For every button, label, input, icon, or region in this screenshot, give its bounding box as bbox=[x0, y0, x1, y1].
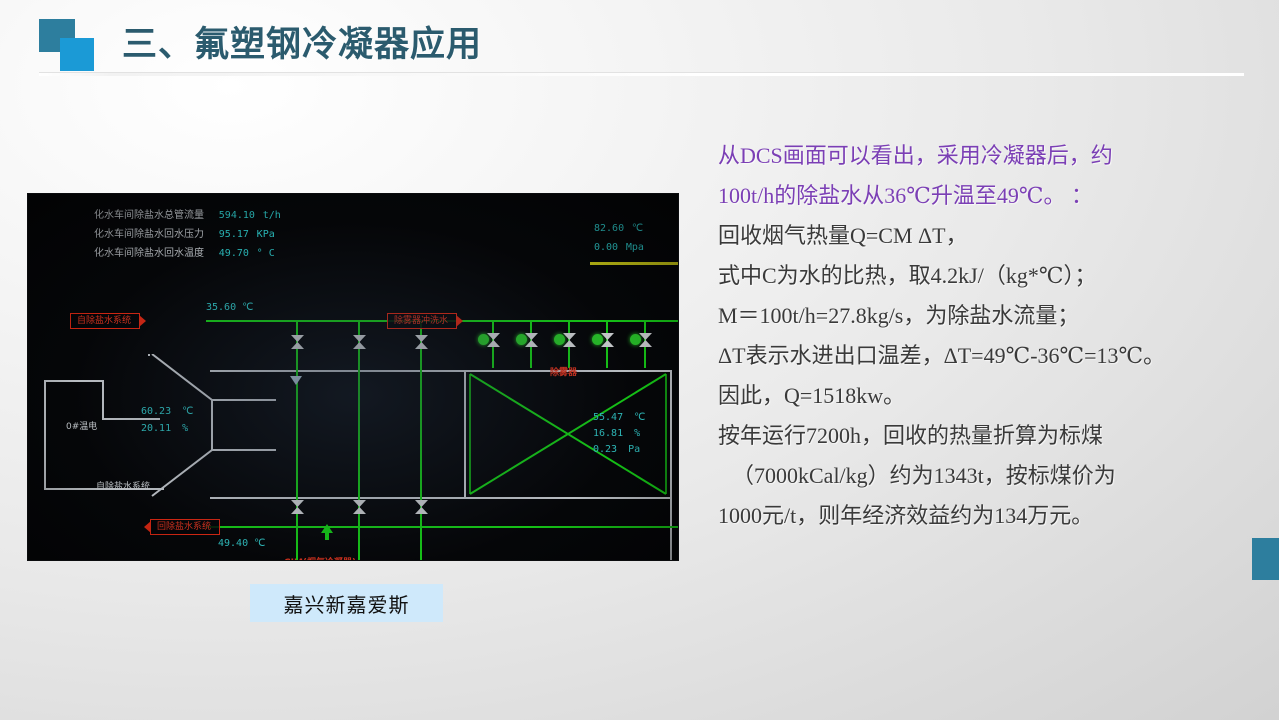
text-line-9: （7000kCal/kg）约为1343t，按标煤价为 bbox=[718, 456, 1266, 496]
chamber-top-wall bbox=[210, 370, 472, 372]
value-left-o2-unit: % bbox=[182, 423, 188, 434]
text-line-8: 按年运行7200h，回收的热量折算为标煤 bbox=[718, 416, 1266, 456]
label-boiler-source: 0#温电 bbox=[66, 419, 97, 432]
value-outlet-temp: 49.40 ℃ bbox=[218, 538, 265, 549]
text-line-4: 式中C为水的比热，取4.2kJ/（kg*℃）； bbox=[718, 256, 1266, 296]
value-inlet-temp: 35.60 ℃ bbox=[206, 302, 253, 313]
value-right-press-unit: Pa bbox=[628, 444, 640, 455]
value-left-stack-o2: 20.11 % bbox=[141, 423, 188, 434]
value-left-stack-temp: 60.23 ℃ bbox=[141, 406, 193, 417]
readout-unit-flow: t/h bbox=[263, 210, 281, 221]
stack-right-wall bbox=[670, 370, 672, 560]
value-right-stack-temp: 55.47 ℃ bbox=[593, 412, 645, 423]
chamber-right-wall bbox=[464, 370, 466, 499]
bundle-feed-1 bbox=[296, 370, 298, 560]
value-right-press-number: 0.23 bbox=[593, 444, 617, 455]
corner-accent-bar bbox=[1252, 538, 1279, 580]
readout-row-stack-press: 0.00 Mpa bbox=[594, 242, 644, 253]
readout-row-pressure: 化水车间除盐水回水压力 95.17 KPa bbox=[94, 225, 275, 240]
header-divider bbox=[39, 72, 1244, 76]
duct-divider-v bbox=[102, 380, 104, 420]
explanation-text-block: 从DCS画面可以看出，采用冷凝器后，约 100t/h的除盐水从36℃升温至49℃… bbox=[718, 136, 1266, 536]
tag-inlet-from-demin-water: 自除盐水系统 bbox=[70, 313, 140, 329]
duct-left-edge bbox=[44, 380, 46, 490]
page-title: 三、氟塑钢冷凝器应用 bbox=[122, 16, 482, 67]
value-left-o2-number: 20.11 bbox=[141, 423, 171, 434]
return-pipe-horizontal bbox=[206, 526, 678, 528]
dcs-screen-photo: 化水车间除盐水总管流量 594.10 t/h 化水车间除盐水回水压力 95.17… bbox=[28, 194, 678, 560]
value-right-temp-number: 55.47 bbox=[593, 412, 623, 423]
flow-arrow-down-1 bbox=[290, 372, 302, 386]
flow-arrow-up-1 bbox=[321, 524, 333, 540]
readout-value-stack-temp: 82.60 bbox=[594, 223, 624, 234]
readout-label-pressure: 化水车间除盐水回水压力 bbox=[94, 229, 204, 240]
yellow-indicator-line bbox=[590, 262, 678, 265]
label-demister: 除雾器 bbox=[550, 365, 577, 378]
value-left-temp-unit: ℃ bbox=[182, 406, 193, 417]
text-line-5: M＝100t/h=27.8kg/s，为除盐水流量； bbox=[718, 296, 1266, 336]
wash-valve-icon-3 bbox=[563, 332, 577, 348]
wash-valve-icon-5 bbox=[639, 332, 653, 348]
readout-unit-temperature: ° C bbox=[257, 248, 275, 259]
value-right-stack-pressure: 0.23 Pa bbox=[593, 444, 640, 455]
value-right-o2-unit: % bbox=[634, 428, 640, 439]
readout-value-temperature: 49.70 bbox=[219, 248, 249, 259]
demister-bottom-wall bbox=[464, 497, 672, 499]
decor-square-light-icon bbox=[60, 38, 94, 71]
text-line-7: 因此，Q=1518kw。 bbox=[718, 376, 1266, 416]
chamber-bottom-wall bbox=[210, 497, 472, 499]
wash-valve-icon-1 bbox=[487, 332, 501, 348]
readout-label-flow: 化水车间除盐水总管流量 bbox=[94, 210, 204, 221]
text-line-6: ΔT表示水进出口温差，ΔT=49℃-36℃=13℃。 bbox=[718, 336, 1266, 376]
text-line-3: 回收烟气热量Q=CM ΔT， bbox=[718, 216, 1266, 256]
readout-label-temperature: 化水车间除盐水回水温度 bbox=[94, 248, 204, 259]
readout-row-temperature: 化水车间除盐水回水温度 49.70 ° C bbox=[94, 244, 275, 259]
value-right-stack-o2: 16.81 % bbox=[593, 428, 640, 439]
value-left-temp-number: 60.23 bbox=[141, 406, 171, 417]
tag-demister-wash-water: 除雾器冲洗水 bbox=[387, 313, 457, 329]
wash-valve-icon-4 bbox=[601, 332, 615, 348]
label-demin-water-source: 自除盐水系统 bbox=[96, 479, 150, 492]
tag-return-to-demin-water: 回除盐水系统 bbox=[150, 519, 220, 535]
readout-value-stack-press: 0.00 bbox=[594, 242, 618, 253]
wash-valve-icon-2 bbox=[525, 332, 539, 348]
readout-unit-stack-temp: ℃ bbox=[632, 223, 643, 234]
text-line-1: 从DCS画面可以看出，采用冷凝器后，约 bbox=[718, 136, 1266, 176]
value-right-temp-unit: ℃ bbox=[634, 412, 645, 423]
image-caption: 嘉兴新嘉爱斯 bbox=[250, 584, 443, 622]
readout-row-stack-temp: 82.60 ℃ bbox=[594, 223, 643, 234]
readout-row-flow: 化水车间除盐水总管流量 594.10 t/h bbox=[94, 206, 281, 221]
bundle-feed-2 bbox=[358, 370, 360, 560]
slide-header: 三、氟塑钢冷凝器应用 bbox=[0, 0, 1279, 90]
value-right-o2-number: 16.81 bbox=[593, 428, 623, 439]
readout-value-flow: 594.10 bbox=[219, 210, 255, 221]
readout-unit-stack-press: Mpa bbox=[626, 242, 644, 253]
bundle-feed-3 bbox=[420, 370, 422, 560]
readout-value-pressure: 95.17 bbox=[219, 229, 249, 240]
label-condenser: CJM(烟气冷凝器) bbox=[284, 555, 356, 560]
duct-top-left bbox=[44, 380, 104, 382]
readout-unit-pressure: KPa bbox=[257, 229, 275, 240]
text-line-10: 1000元/t，则年经济效益约为134万元。 bbox=[718, 496, 1266, 536]
text-line-2: 100t/h的除盐水从36℃升温至49℃。 ： bbox=[718, 176, 1266, 216]
